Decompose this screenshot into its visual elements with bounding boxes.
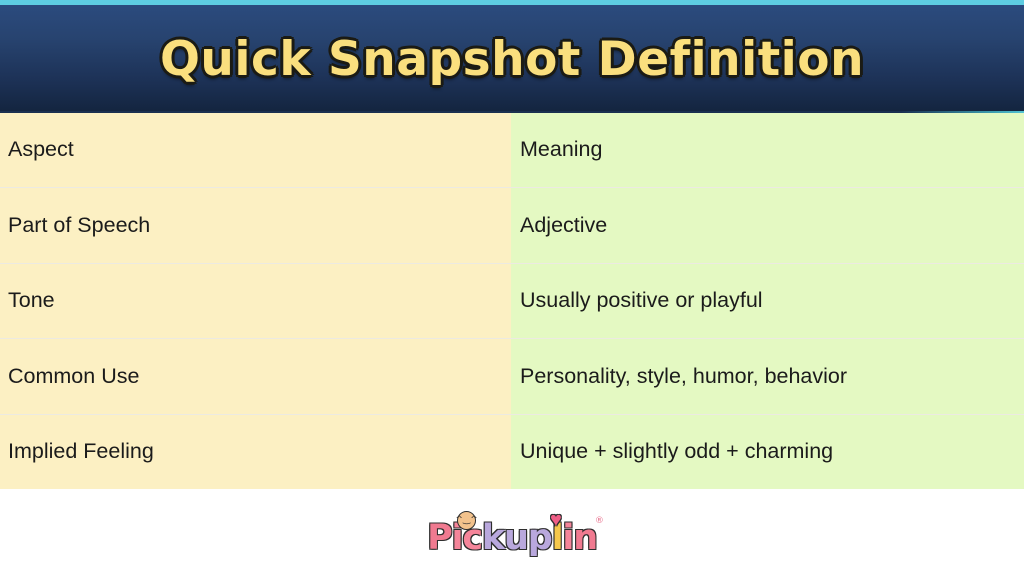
table-row: Common Use Personality, style, humor, be… [0, 339, 1024, 414]
brand-logo-text: Pickuplin [427, 521, 597, 556]
table-cell-aspect: Tone [0, 264, 511, 338]
page-title: Quick Snapshot Definition [160, 30, 864, 83]
table-row: Implied Feeling Unique + slightly odd + … [0, 415, 1024, 489]
definition-table: Aspect Meaning Part of Speech Adjective … [0, 113, 1024, 489]
table-cell-meaning: Personality, style, humor, behavior [511, 339, 1024, 413]
infographic-page: Quick Snapshot Definition Aspect Meaning… [0, 0, 1024, 576]
table-cell-meaning: Unique + slightly odd + charming [511, 415, 1024, 489]
table-row: Part of Speech Adjective [0, 188, 1024, 263]
brand-letter: n [573, 518, 597, 558]
table-cell-meaning: Usually positive or playful [511, 264, 1024, 338]
table-row: Aspect Meaning [0, 113, 1024, 188]
brand-letter: u [504, 518, 528, 558]
table-cell-meaning: Meaning [511, 113, 1024, 187]
table-cell-aspect: Implied Feeling [0, 415, 511, 489]
table-cell-aspect: Part of Speech [0, 188, 511, 262]
table-cell-aspect: Common Use [0, 339, 511, 413]
brand-letter: k [482, 518, 504, 558]
brand-letter: P [427, 518, 451, 558]
header-banner: Quick Snapshot Definition [0, 0, 1024, 113]
footer: Pickuplin ^‿^ ♥ ® [0, 489, 1024, 576]
table-cell-aspect: Aspect [0, 113, 511, 187]
registered-trademark-icon: ® [595, 516, 604, 526]
smiley-face-icon: ^‿^ [457, 511, 476, 530]
table-cell-meaning: Adjective [511, 188, 1024, 262]
table-row: Tone Usually positive or playful [0, 264, 1024, 339]
header-top-accent-bar [0, 0, 1024, 5]
brand-logo: Pickuplin ^‿^ ♥ ® [427, 510, 597, 556]
heart-icon: ♥ [546, 510, 566, 530]
